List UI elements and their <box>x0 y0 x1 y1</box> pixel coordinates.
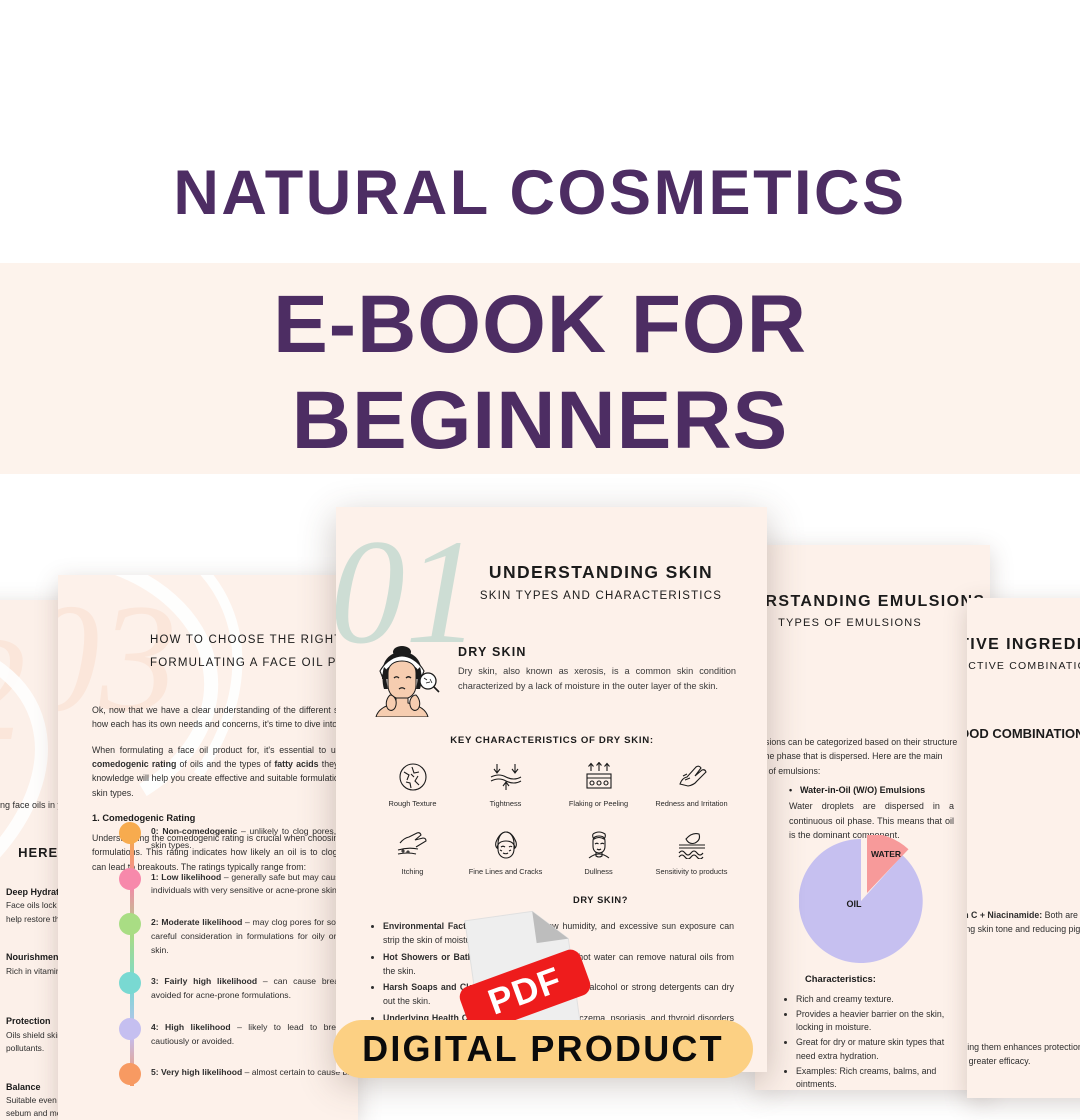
characteristic-cell: Flaking or Peeling <box>552 759 645 809</box>
characteristics-icon-grid: Rough Texture Tightness <box>366 759 738 877</box>
list-item: 0: Non-comedogenic – unlikely to clog po… <box>84 822 358 853</box>
rating-lead: 0: Non-comedogenic <box>151 826 237 836</box>
ebook-page-far-right[interactable]: ACTIVE INGREDIENTS ACTIVE COMBINATIONS G… <box>967 598 1080 1098</box>
headline-top: NATURAL COSMETICS <box>0 160 1080 226</box>
rating-lead: 2: Moderate likelihood <box>151 917 242 927</box>
dry-skin-section: DRY SKIN Dry skin, also known as xerosis… <box>366 645 736 717</box>
rating-lead: 3: Fairly high likelihood <box>151 976 257 986</box>
para-part: of oils and the types of <box>176 759 274 769</box>
itching-icon <box>366 827 459 863</box>
fine-lines-icon <box>459 827 552 863</box>
para-part: When formulating a face oil product for,… <box>92 745 358 755</box>
page-subtitle-line-2: FORMULATING A FACE OIL PRODUCT <box>150 655 358 672</box>
comedogenic-rating-list: 0: Non-comedogenic – unlikely to clog po… <box>84 822 358 1100</box>
list-item: Provides a heavier barrier on the skin, … <box>796 1008 965 1035</box>
characteristic-cell: Dullness <box>552 827 645 877</box>
para-bold: comedogenic rating <box>92 759 176 769</box>
center-page-title-block: UNDERSTANDING SKIN SKIN TYPES AND CHARAC… <box>446 562 756 602</box>
rating-text: 2: Moderate likelihood – may clog pores … <box>151 913 358 957</box>
page-subtitle: TYPES OF EMULSIONS <box>755 617 990 629</box>
item-lead: Vitamin C + Niacinamide: <box>967 910 1042 920</box>
rating-dot <box>119 868 141 890</box>
page-title: FACE OILS <box>150 608 358 626</box>
rating-lead: 5: Very high likelihood <box>151 1067 242 1077</box>
pie-label-oil: OIL <box>847 899 863 909</box>
rating-text: 5: Very high likelihood – almost certain… <box>151 1063 358 1080</box>
list-item: 1: Low likelihood – generally safe but m… <box>84 868 358 899</box>
section-body: Dry skin, also known as xerosis, is a co… <box>458 664 736 694</box>
characteristics-heading: Characteristics: <box>805 973 876 984</box>
digital-product-label: DIGITAL PRODUCT <box>362 1028 724 1070</box>
rating-text: 0: Non-comedogenic – unlikely to clog po… <box>151 822 358 853</box>
tightness-icon <box>459 759 552 795</box>
list-item: 5: Very high likelihood – almost certain… <box>84 1063 358 1085</box>
sensitivity-icon <box>645 827 738 863</box>
list-item: 4: High likelihood – likely to lead to b… <box>84 1018 358 1049</box>
far-right-item-2: Combining them enhances protection and s… <box>967 1040 1080 1068</box>
left-page-title-block: FACE OILS HOW TO CHOOSE THE RIGHT OIL WH… <box>150 608 358 671</box>
rating-text: 3: Fairly high likelihood – can cause br… <box>151 972 358 1003</box>
list-item: Examples: Rich creams, balms, and ointme… <box>796 1065 965 1090</box>
far-right-heading: GOOD COMBINATIONS: <box>967 726 1080 741</box>
right-page-title-block: UNDERSTANDING EMULSIONS TYPES OF EMULSIO… <box>755 593 990 629</box>
flaking-icon <box>552 759 645 795</box>
page-title: ACTIVE INGREDIENTS <box>967 636 1080 654</box>
characteristic-cell: Redness and Irritation <box>645 759 738 809</box>
list-item: Rich and creamy texture. <box>796 993 965 1007</box>
characteristic-cell: Rough Texture <box>366 759 459 809</box>
headline-bottom: E-BOOK FOR BEGINNERS <box>0 277 1080 469</box>
right-page-intro: Emulsions can be categorized based on th… <box>755 735 960 778</box>
characteristic-cell: Fine Lines and Cracks <box>459 827 552 877</box>
pie-label-water: WATER <box>871 849 901 859</box>
digital-product-badge[interactable]: DIGITAL PRODUCT <box>333 1020 753 1078</box>
title-line-2: E-BOOK FOR <box>0 277 1080 373</box>
page-title: UNDERSTANDING EMULSIONS <box>755 593 990 611</box>
characteristic-label: Fine Lines and Cracks <box>459 867 552 877</box>
rating-dot <box>119 822 141 844</box>
characteristic-label: Sensitivity to products <box>645 867 738 877</box>
characteristic-label: Rough Texture <box>366 799 459 809</box>
dry-skin-illustration-icon <box>366 645 444 717</box>
bullet-title: Water-in-Oil (W/O) Emulsions <box>789 785 954 795</box>
far-right-item-1: Vitamin C + Niacinamide: Both are effect… <box>967 908 1080 936</box>
list-item: 3: Fairly high likelihood – can cause br… <box>84 972 358 1003</box>
dry-skin-text: DRY SKIN Dry skin, also known as xerosis… <box>458 645 736 717</box>
dullness-icon <box>552 827 645 863</box>
list-item: 2: Moderate likelihood – may clog pores … <box>84 913 358 957</box>
rating-text: 4: High likelihood – likely to lead to b… <box>151 1018 358 1049</box>
rating-text: 1: Low likelihood – generally safe but m… <box>151 868 358 899</box>
rating-dot <box>119 1063 141 1085</box>
rough-texture-icon <box>366 759 459 795</box>
pie-chart-svg: OIL WATER <box>799 835 927 963</box>
characteristics-heading: KEY CHARACTERISTICS OF DRY SKIN: <box>372 735 732 746</box>
ebook-page-left[interactable]: 03 FACE OILS HOW TO CHOOSE THE RIGHT OIL… <box>58 575 358 1120</box>
causes-heading: DRY SKIN? <box>366 895 738 905</box>
paragraph: Ok, now that we have a clear understandi… <box>92 703 358 732</box>
page-subtitle-line-1: HOW TO CHOOSE THE RIGHT OIL WHEN <box>150 632 358 649</box>
section-heading: DRY SKIN <box>458 645 736 659</box>
characteristic-label: Itching <box>366 867 459 877</box>
page-subtitle: SKIN TYPES AND CHARACTERISTICS <box>446 590 756 602</box>
rating-lead: 4: High likelihood <box>151 1022 231 1032</box>
list-item: Great for dry or mature skin types that … <box>796 1036 965 1063</box>
rating-lead: 1: Low likelihood <box>151 872 221 882</box>
characteristic-cell: Tightness <box>459 759 552 809</box>
page-subtitle: ACTIVE COMBINATIONS <box>967 660 1080 672</box>
rating-dot <box>119 913 141 935</box>
characteristic-cell: Sensitivity to products <box>645 827 738 877</box>
page-title: UNDERSTANDING SKIN <box>446 562 756 583</box>
characteristic-label: Tightness <box>459 799 552 809</box>
poster-canvas: NATURAL COSMETICS E-BOOK FOR BEGINNERS 0… <box>0 0 1080 1080</box>
characteristic-label: Redness and Irritation <box>645 799 738 809</box>
para-bold: fatty acids <box>274 759 318 769</box>
title-line-1: NATURAL COSMETICS <box>0 160 1080 226</box>
characteristic-cell: Itching <box>366 827 459 877</box>
rating-dot <box>119 1018 141 1040</box>
rating-dot <box>119 972 141 994</box>
title-line-3: BEGINNERS <box>0 373 1080 469</box>
far-right-title-block: ACTIVE INGREDIENTS ACTIVE COMBINATIONS <box>967 636 1080 672</box>
redness-icon <box>645 759 738 795</box>
characteristic-label: Flaking or Peeling <box>552 799 645 809</box>
emulsion-pie-chart: OIL WATER <box>799 835 927 963</box>
characteristic-label: Dullness <box>552 867 645 877</box>
ebook-page-right[interactable]: UNDERSTANDING EMULSIONS TYPES OF EMULSIO… <box>755 545 990 1090</box>
woman-face-illustration <box>366 645 444 717</box>
paragraph: When formulating a face oil product for,… <box>92 743 358 800</box>
characteristics-list: Rich and creamy texture. Provides a heav… <box>785 993 965 1090</box>
